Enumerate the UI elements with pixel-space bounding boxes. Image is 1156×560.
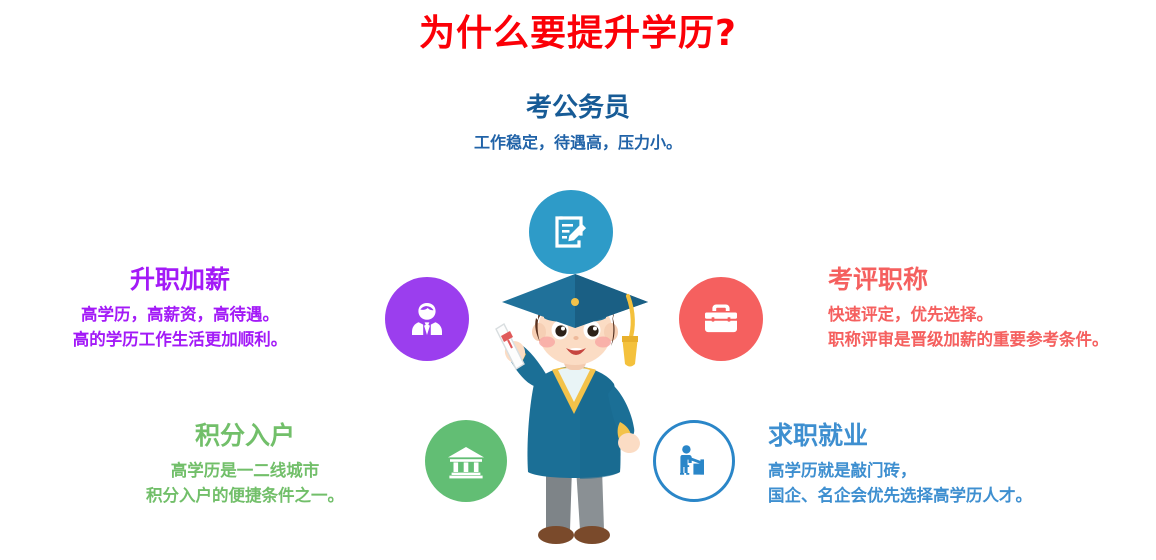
body-line: 职称评审是晋级加薪的重要参考条件。 <box>828 327 1109 352</box>
block-heading-promotion: 升职加薪 <box>20 264 340 296</box>
businessperson-icon <box>385 277 469 361</box>
body-line: 快速评定，优先选择。 <box>828 302 1109 327</box>
block-heading-title-eval: 考评职称 <box>828 264 1109 296</box>
body-line: 高学历，高薪资，高待遇。 <box>20 302 340 327</box>
graduate-boy-illustration <box>468 272 678 560</box>
infographic-canvas: 为什么要提升学历? 考公务员 工作稳定，待遇高，压力小。 升职加薪 高学历，高薪… <box>0 0 1156 560</box>
block-household: 积分入户 高学历是一二线城市 积分入户的便捷条件之一。 <box>80 420 410 508</box>
block-heading-employment: 求职就业 <box>768 420 1032 452</box>
block-body-employment: 高学历就是敲门砖， 国企、名企会优先选择高学历人才。 <box>768 458 1032 508</box>
exam-document-icon <box>529 190 613 274</box>
block-body-civil-service: 工作稳定，待遇高，压力小。 <box>378 130 778 155</box>
body-line: 高的学历工作生活更加顺利。 <box>20 327 340 352</box>
briefcase-icon <box>679 277 763 361</box>
body-line: 积分入户的便捷条件之一。 <box>80 483 410 508</box>
body-line: 高学历是一二线城市 <box>80 458 410 483</box>
body-line: 国企、名企会优先选择高学历人才。 <box>768 483 1032 508</box>
body-line: 高学历就是敲门砖， <box>768 458 1032 483</box>
block-title-eval: 考评职称 快速评定，优先选择。 职称评审是晋级加薪的重要参考条件。 <box>828 264 1109 352</box>
body-line: 工作稳定，待遇高，压力小。 <box>378 130 778 155</box>
block-employment: 求职就业 高学历就是敲门砖， 国企、名企会优先选择高学历人才。 <box>768 420 1032 508</box>
block-body-title-eval: 快速评定，优先选择。 职称评审是晋级加薪的重要参考条件。 <box>828 302 1109 352</box>
page-title: 为什么要提升学历? <box>0 12 1156 56</box>
block-civil-service: 考公务员 工作稳定，待遇高，压力小。 <box>378 92 778 155</box>
block-promotion: 升职加薪 高学历，高薪资，高待遇。 高的学历工作生活更加顺利。 <box>20 264 340 352</box>
block-body-household: 高学历是一二线城市 积分入户的便捷条件之一。 <box>80 458 410 508</box>
block-body-promotion: 高学历，高薪资，高待遇。 高的学历工作生活更加顺利。 <box>20 302 340 352</box>
block-heading-civil-service: 考公务员 <box>378 92 778 124</box>
block-heading-household: 积分入户 <box>80 420 410 452</box>
